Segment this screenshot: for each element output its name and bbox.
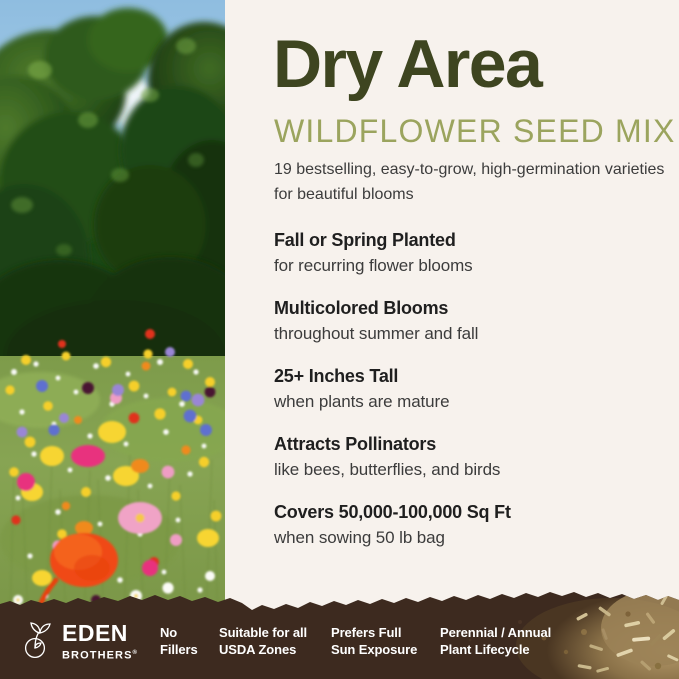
list-item: Covers 50,000-100,000 Sq Ft when sowing … bbox=[274, 500, 674, 550]
page-title: Dry Area bbox=[273, 26, 541, 102]
product-description: 19 bestselling, easy-to-grow, high-germi… bbox=[274, 157, 674, 207]
claim-line-2: Plant Lifecycle bbox=[440, 641, 551, 658]
footer-claim-plant-lifecycle: Perennial / Annual Plant Lifecycle bbox=[440, 624, 551, 658]
feature-subtitle: like bees, butterflies, and birds bbox=[274, 457, 674, 482]
footer-claim-no-fillers: No Fillers bbox=[160, 624, 198, 658]
logo-wordmark: EDEN bbox=[62, 622, 138, 645]
logo-subwordmark: BROTHERS® bbox=[62, 647, 138, 663]
claim-line-1: Perennial / Annual bbox=[440, 624, 551, 641]
claim-line-1: No bbox=[160, 624, 198, 641]
feature-list: Fall or Spring Planted for recurring flo… bbox=[274, 228, 674, 550]
claim-line-2: Fillers bbox=[160, 641, 198, 658]
sprout-icon bbox=[22, 621, 58, 659]
wildflower-meadow-photo bbox=[0, 0, 225, 620]
product-subtitle: WILDFLOWER SEED MIX bbox=[274, 112, 676, 150]
product-info-graphic: Dry Area WILDFLOWER SEED MIX 19 bestsell… bbox=[0, 0, 679, 679]
feature-subtitle: when plants are mature bbox=[274, 389, 674, 414]
list-item: Attracts Pollinators like bees, butterfl… bbox=[274, 432, 674, 482]
feature-subtitle: when sowing 50 lb bag bbox=[274, 525, 674, 550]
list-item: Multicolored Blooms throughout summer an… bbox=[274, 296, 674, 346]
claim-line-2: Sun Exposure bbox=[331, 641, 417, 658]
claim-line-1: Suitable for all bbox=[219, 624, 307, 641]
feature-title: Multicolored Blooms bbox=[274, 296, 674, 321]
claim-line-2: USDA Zones bbox=[219, 641, 307, 658]
feature-subtitle: for recurring flower blooms bbox=[274, 253, 674, 278]
feature-title: Covers 50,000-100,000 Sq Ft bbox=[274, 500, 674, 525]
footer-claim-sun-exposure: Prefers Full Sun Exposure bbox=[331, 624, 417, 658]
list-item: Fall or Spring Planted for recurring flo… bbox=[274, 228, 674, 278]
footer-claim-usda-zones: Suitable for all USDA Zones bbox=[219, 624, 307, 658]
feature-subtitle: throughout summer and fall bbox=[274, 321, 674, 346]
feature-title: Attracts Pollinators bbox=[274, 432, 674, 457]
product-copy-panel: Dry Area WILDFLOWER SEED MIX 19 bestsell… bbox=[225, 0, 679, 620]
eden-brothers-logo[interactable]: EDEN BROTHERS® bbox=[22, 621, 132, 659]
feature-title: Fall or Spring Planted bbox=[274, 228, 674, 253]
claim-line-1: Prefers Full bbox=[331, 624, 417, 641]
list-item: 25+ Inches Tall when plants are mature bbox=[274, 364, 674, 414]
brand-footer-bar: EDEN BROTHERS® No Fillers Suitable for a… bbox=[0, 588, 679, 679]
feature-title: 25+ Inches Tall bbox=[274, 364, 674, 389]
